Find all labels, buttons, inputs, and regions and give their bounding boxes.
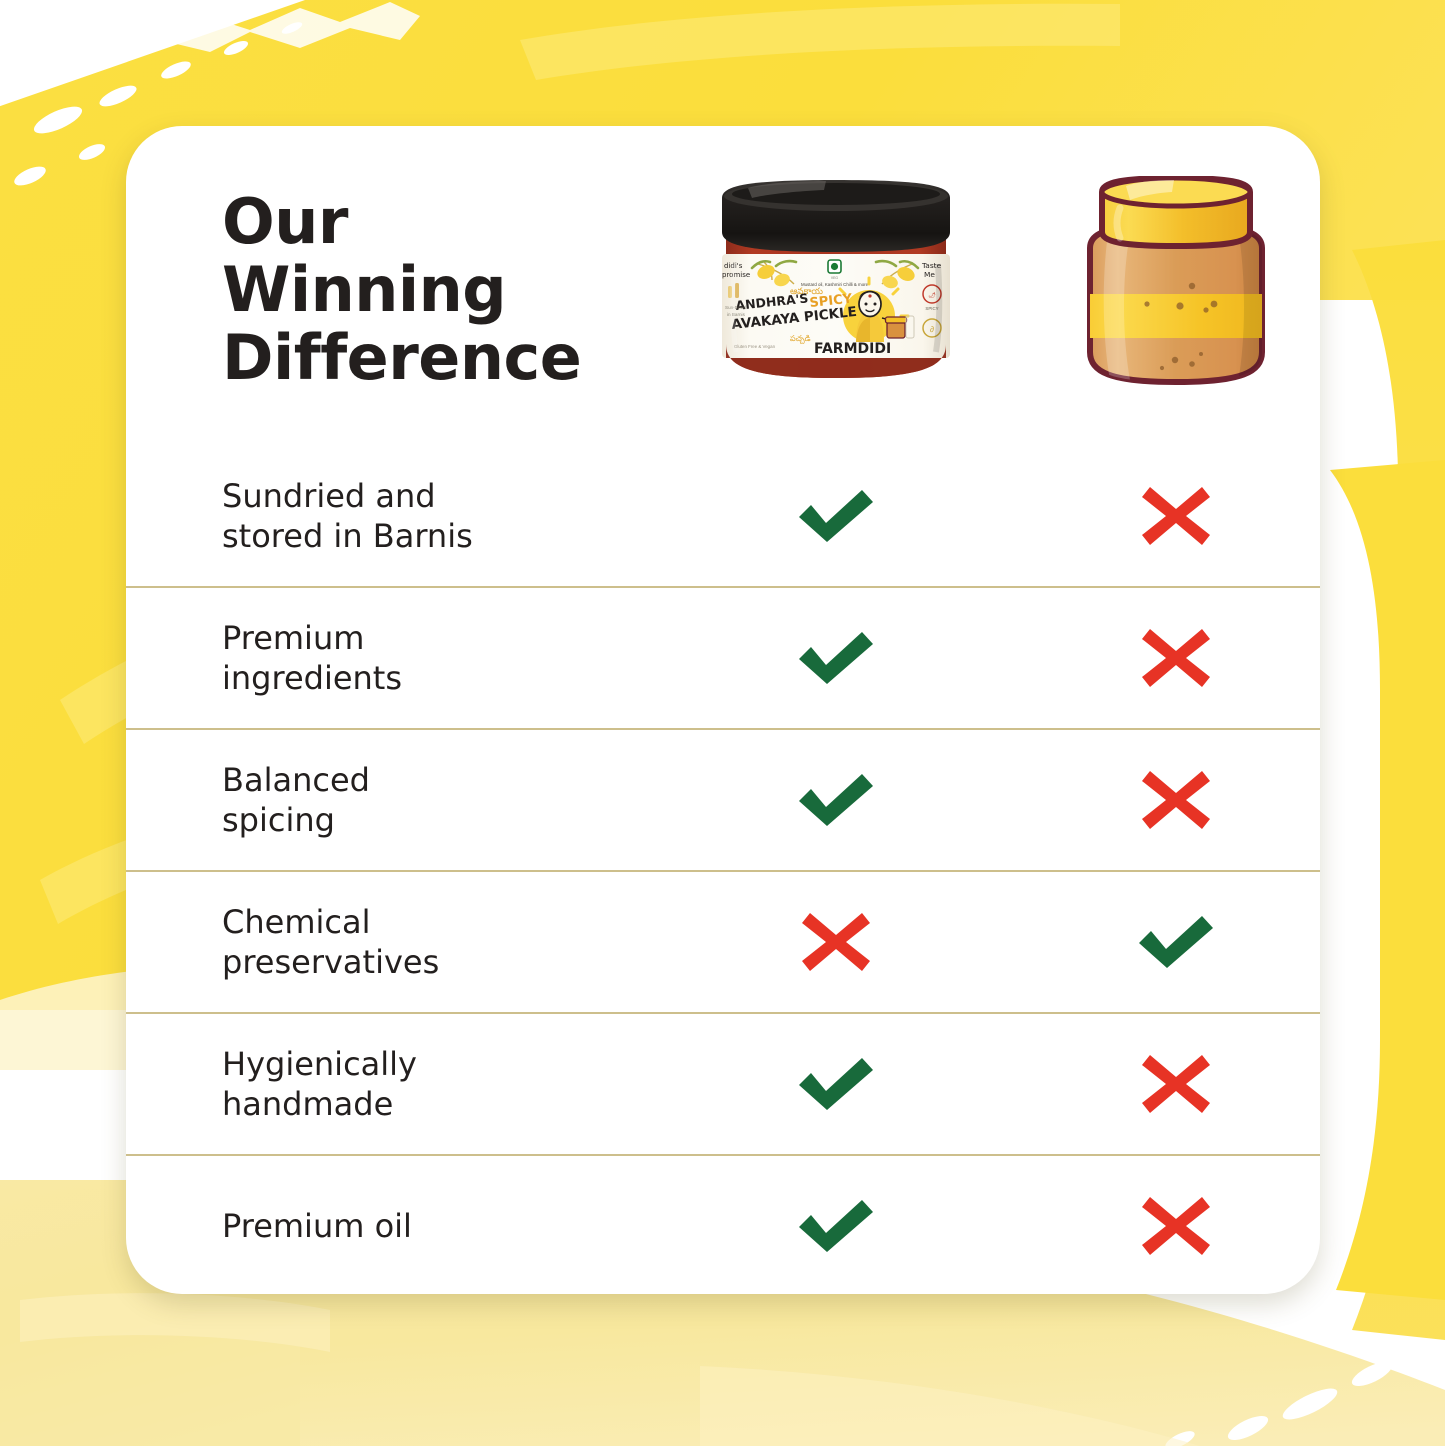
cell-other bbox=[1076, 483, 1276, 549]
cell-other bbox=[1076, 767, 1276, 833]
svg-text:FARMDIDI: FARMDIDI bbox=[814, 341, 891, 357]
comparison-infographic: Our Winning Difference bbox=[0, 0, 1445, 1446]
check-icon bbox=[1133, 909, 1219, 975]
svg-text:VEG: VEG bbox=[831, 276, 839, 280]
cell-brand bbox=[736, 1193, 936, 1259]
page-title: Our Winning Difference bbox=[222, 188, 581, 393]
cell-other bbox=[1076, 1193, 1276, 1259]
row-label: Sundried and stored in Barnis bbox=[222, 476, 642, 556]
cell-brand bbox=[736, 625, 936, 691]
svg-text:promise: promise bbox=[722, 271, 750, 279]
row-label: Hygienically handmade bbox=[222, 1044, 642, 1124]
table-row: Chemical preservatives bbox=[126, 870, 1320, 1012]
row-label: Premium oil bbox=[222, 1206, 642, 1246]
svg-text:Gluten Free & Vegan: Gluten Free & Vegan bbox=[734, 344, 776, 349]
cell-brand bbox=[736, 1051, 936, 1117]
table-row: Premium ingredients bbox=[126, 586, 1320, 728]
cell-brand bbox=[736, 483, 936, 549]
comparison-card: Our Winning Difference bbox=[126, 126, 1320, 1294]
svg-text:∂: ∂ bbox=[930, 325, 934, 334]
column-header-brand: VEG Mustard oil, Kashmiri Chilli & more bbox=[706, 176, 966, 406]
cell-brand bbox=[736, 909, 936, 975]
card-header: Our Winning Difference bbox=[126, 126, 1320, 446]
column-header-other bbox=[1046, 176, 1306, 406]
cross-icon bbox=[1140, 625, 1212, 691]
cell-other bbox=[1076, 909, 1276, 975]
table-row: Balanced spicing bbox=[126, 728, 1320, 870]
check-icon bbox=[793, 1051, 879, 1117]
cross-icon bbox=[1140, 483, 1212, 549]
check-icon bbox=[793, 625, 879, 691]
svg-text:in Barnis: in Barnis bbox=[727, 312, 746, 317]
cell-other bbox=[1076, 625, 1276, 691]
row-label: Chemical preservatives bbox=[222, 902, 642, 982]
table-row: Hygienically handmade bbox=[126, 1012, 1320, 1154]
cross-icon bbox=[800, 909, 872, 975]
cross-icon bbox=[1140, 1193, 1212, 1259]
svg-text:Sun-Dried: Sun-Dried bbox=[725, 305, 746, 310]
cross-icon bbox=[1140, 1051, 1212, 1117]
svg-text:🌶: 🌶 bbox=[928, 291, 936, 299]
farmdidi-pickle-jar-icon: VEG Mustard oil, Kashmiri Chilli & more bbox=[706, 176, 966, 406]
cell-other bbox=[1076, 1051, 1276, 1117]
check-icon bbox=[793, 767, 879, 833]
table-row: Sundried and stored in Barnis bbox=[126, 446, 1320, 586]
row-label: Premium ingredients bbox=[222, 618, 642, 698]
cell-brand bbox=[736, 767, 936, 833]
row-label: Balanced spicing bbox=[222, 760, 642, 840]
comparison-rows: Sundried and stored in Barnis Premium in… bbox=[126, 446, 1320, 1294]
cross-icon bbox=[1140, 767, 1212, 833]
check-icon bbox=[793, 483, 879, 549]
check-icon bbox=[793, 1193, 879, 1259]
table-row: Premium oil bbox=[126, 1154, 1320, 1294]
svg-text:Me: Me bbox=[924, 270, 935, 279]
generic-jar-icon bbox=[1046, 176, 1306, 406]
svg-text:పచ్చడి: పచ్చడి bbox=[790, 334, 811, 344]
